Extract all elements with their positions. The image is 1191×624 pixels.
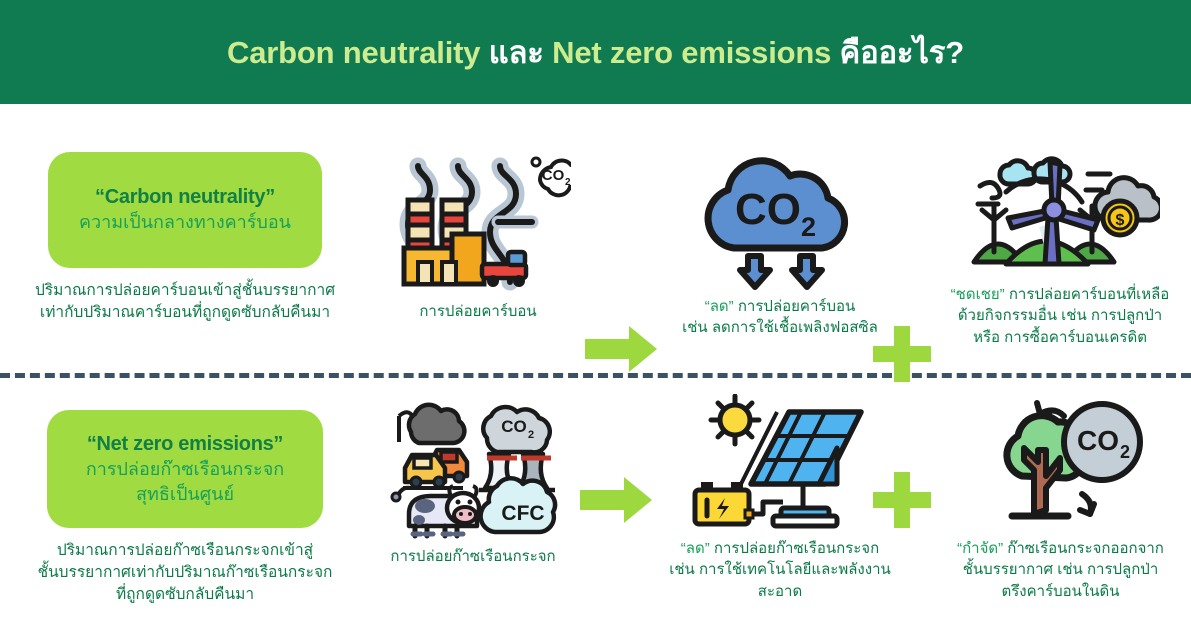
tree-carbon-removal-icon: CO 2 — [966, 394, 1156, 534]
reduce-carbon-caption: “ลด” การปล่อยคาร์บอน เช่น ลดการใช้เชื้อเ… — [655, 296, 905, 339]
title-part-carbon-neutrality: Carbon neutrality — [227, 35, 480, 70]
solar-panel-battery-icon — [685, 394, 875, 534]
reduce-carbon-caption-line-2: เช่น ลดการใช้เชื้อเพลิงฟอสซิล — [655, 317, 905, 338]
remove-ghg-icon-column: CO 2 “กำจัด” ก๊าซเรือนกระจกออกจาก ชั้นบร… — [930, 394, 1191, 602]
solar-panel — [741, 412, 861, 484]
tower-co2-label: CO — [501, 417, 527, 436]
co2-cloud-subscript: 2 — [801, 212, 816, 242]
page-header: Carbon neutrality และ Net zero emissions… — [0, 0, 1191, 104]
infographic-page: Carbon neutrality และ Net zero emissions… — [0, 0, 1191, 624]
plus-icon-row2 — [873, 472, 931, 533]
factory-building — [404, 200, 484, 284]
reduce-carbon-icon-column: CO 2 “ลด” การปล่อยคาร์บอน เช่น ลดการใช้เ… — [655, 152, 905, 339]
title-question: คืออะไร? — [840, 35, 964, 70]
co2-cloud-label: CO — [735, 185, 801, 234]
row-carbon-neutrality: “Carbon neutrality” ความเป็นกลางทางคาร์บ… — [0, 104, 1191, 374]
remove-ghg-caption-line-1: “กำจัด” ก๊าซเรือนกระจกออกจาก — [930, 538, 1191, 559]
carbon-neutrality-description: ปริมาณการปล่อยคาร์บอนเข้าสู่ชั้นบรรยากาศ… — [0, 280, 370, 324]
remove-ghg-caption-line-2: ชั้นบรรยากาศ เช่น การปลูกป่า — [930, 559, 1191, 580]
svg-text:CO: CO — [541, 167, 564, 184]
arrow-right-icon-row1 — [585, 326, 657, 377]
reduce-ghg-keyword: “ลด” — [681, 540, 710, 557]
factory-emissions-icon: CO 2 — [386, 152, 571, 297]
net-zero-pill-title: “Net zero emissions” — [87, 432, 283, 457]
offset-carbon-icon-column: $ “ชดเชย” การปล่อยคาร์บอนที่เหลือ ด้วยกิ… — [935, 152, 1185, 348]
carbon-neutrality-pill-title: “Carbon neutrality” — [95, 185, 275, 210]
title-conjunction: และ — [489, 35, 544, 70]
co2-circle-label: CO — [1077, 425, 1119, 456]
carbon-neutrality-desc-line-1: ปริมาณการปล่อยคาร์บอนเข้าสู่ชั้นบรรยากาศ — [0, 280, 370, 302]
greenhouse-gas-sources-icon: CO 2 — [383, 402, 563, 542]
carbon-neutrality-label-column: “Carbon neutrality” ความเป็นกลางทางคาร์บ… — [0, 152, 370, 324]
carbon-neutrality-desc-line-2: เท่ากับปริมาณคาร์บอนที่ถูกดูดซับกลับคืนม… — [0, 302, 370, 324]
net-zero-desc-line-3: ที่ถูกดูดซับกลับคืนมา — [0, 584, 370, 606]
co2-bubble-icon: CO 2 — [532, 158, 571, 195]
reduce-carbon-caption-rest: การปล่อยคาร์บอน — [734, 298, 856, 315]
reduce-ghg-icon-column: “ลด” การปล่อยก๊าซเรือนกระจก เช่น การใช้เ… — [650, 394, 910, 602]
row-net-zero-emissions: “Net zero emissions” การปล่อยก๊าซเรือนกร… — [0, 380, 1191, 624]
sun-icon — [711, 396, 759, 444]
svg-text:2: 2 — [565, 177, 571, 188]
net-zero-desc-line-2: ชั้นบรรยากาศเท่ากับปริมาณก๊าซเรือนกระจก — [0, 562, 370, 584]
down-arrow-left — [740, 256, 770, 287]
carbon-emission-icon-column: CO 2 การปล่อยคาร์บอน — [378, 152, 578, 322]
cow-icon — [392, 486, 479, 536]
remove-ghg-caption: “กำจัด” ก๊าซเรือนกระจกออกจาก ชั้นบรรยากา… — [930, 538, 1191, 602]
net-zero-label-column: “Net zero emissions” การปล่อยก๊าซเรือนกร… — [0, 410, 370, 606]
reduce-ghg-caption: “ลด” การปล่อยก๊าซเรือนกระจก เช่น การใช้เ… — [650, 538, 910, 602]
reduce-ghg-caption-line-2: เช่น การใช้เทคโนโลยีและพลังงานสะอาด — [650, 559, 910, 602]
reduce-carbon-caption-line-1: “ลด” การปล่อยคาร์บอน — [655, 296, 905, 317]
reduce-carbon-keyword: “ลด” — [705, 298, 734, 315]
co2-cloud-reduce-icon: CO 2 — [690, 152, 870, 292]
carbon-emission-caption: การปล่อยคาร์บอน — [378, 301, 578, 322]
tower-co2-subscript: 2 — [528, 429, 534, 441]
offset-carbon-caption-line-3: หรือ การซื้อคาร์บอนเครดิต — [935, 327, 1185, 348]
remove-ghg-keyword: “กำจัด” — [957, 540, 1003, 557]
down-arrow-right — [792, 256, 822, 287]
wind-turbine-offset-icon: $ — [960, 152, 1160, 280]
title-part-net-zero: Net zero emissions — [552, 35, 831, 70]
ghg-emission-icon-column: CO 2 — [368, 402, 578, 567]
battery-icon — [695, 482, 753, 524]
arrow-right-icon-row2 — [580, 477, 652, 528]
page-title: Carbon neutrality และ Net zero emissions… — [227, 27, 964, 77]
co2-circle-icon: CO 2 — [1064, 404, 1140, 480]
offset-carbon-caption-rest: การปล่อยคาร์บอนที่เหลือ — [1005, 286, 1170, 303]
carbon-neutrality-pill-subtitle: ความเป็นกลางทางคาร์บอน — [79, 210, 291, 234]
net-zero-pill-subtitle-line-1: การปล่อยก๊าซเรือนกระจก — [86, 457, 284, 481]
net-zero-pill-subtitle-line-2: สุทธิเป็นศูนย์ — [136, 482, 234, 506]
svg-text:$: $ — [1116, 212, 1125, 229]
plus-icon-row1 — [873, 326, 931, 387]
offset-carbon-keyword: “ชดเชย” — [951, 286, 1005, 303]
co2-circle-subscript: 2 — [1120, 442, 1130, 462]
offset-carbon-caption-line-2: ด้วยกิจกรรมอื่น เช่น การปลูกป่า — [935, 305, 1185, 326]
offset-carbon-caption: “ชดเชย” การปล่อยคาร์บอนที่เหลือ ด้วยกิจก… — [935, 284, 1185, 348]
offset-carbon-caption-line-1: “ชดเชย” การปล่อยคาร์บอนที่เหลือ — [935, 284, 1185, 305]
remove-ghg-caption-rest: ก๊าซเรือนกระจกออกจาก — [1003, 540, 1164, 557]
ghg-emission-caption: การปล่อยก๊าซเรือนกระจก — [368, 546, 578, 567]
ghg-emission-caption-line-1: การปล่อยก๊าซเรือนกระจก — [368, 546, 578, 567]
cfc-label: CFC — [501, 502, 544, 525]
carbon-credit-cloud-icon: $ — [1095, 178, 1160, 235]
remove-ghg-caption-line-3: ตรึงคาร์บอนในดิน — [930, 581, 1191, 602]
net-zero-desc-line-1: ปริมาณการปล่อยก๊าซเรือนกระจกเข้าสู่ — [0, 540, 370, 562]
carbon-emission-caption-line-1: การปล่อยคาร์บอน — [378, 301, 578, 322]
reduce-ghg-caption-rest: การปล่อยก๊าซเรือนกระจก — [710, 540, 879, 557]
net-zero-description: ปริมาณการปล่อยก๊าซเรือนกระจกเข้าสู่ ชั้น… — [0, 540, 370, 606]
reduce-ghg-caption-line-1: “ลด” การปล่อยก๊าซเรือนกระจก — [650, 538, 910, 559]
carbon-neutrality-pill: “Carbon neutrality” ความเป็นกลางทางคาร์บ… — [48, 152, 322, 268]
cars-smoke-icon — [399, 405, 467, 488]
net-zero-pill: “Net zero emissions” การปล่อยก๊าซเรือนกร… — [47, 410, 323, 528]
